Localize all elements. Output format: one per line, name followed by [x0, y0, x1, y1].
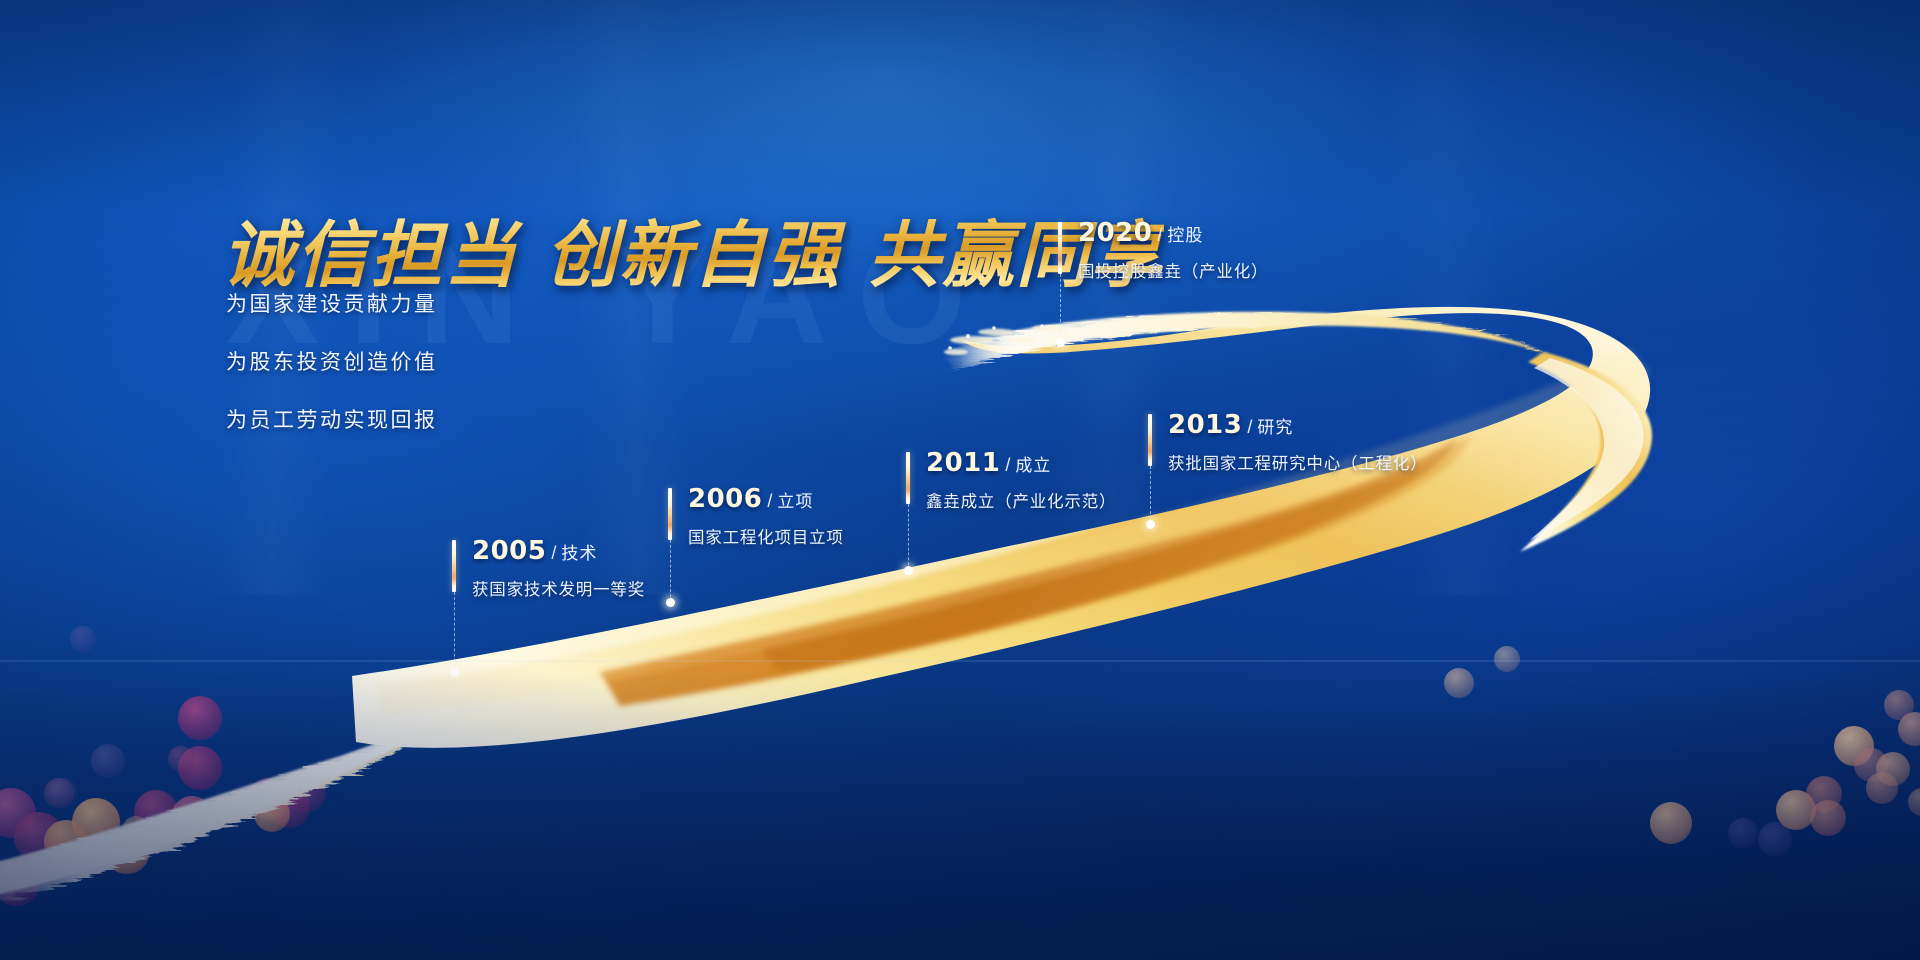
- banner-stage: XIN YAO 诚信担当 创新自强 共赢同享 为国家建设贡献力量 为股东投资创造…: [0, 0, 1920, 960]
- background-vignette: [0, 0, 1920, 960]
